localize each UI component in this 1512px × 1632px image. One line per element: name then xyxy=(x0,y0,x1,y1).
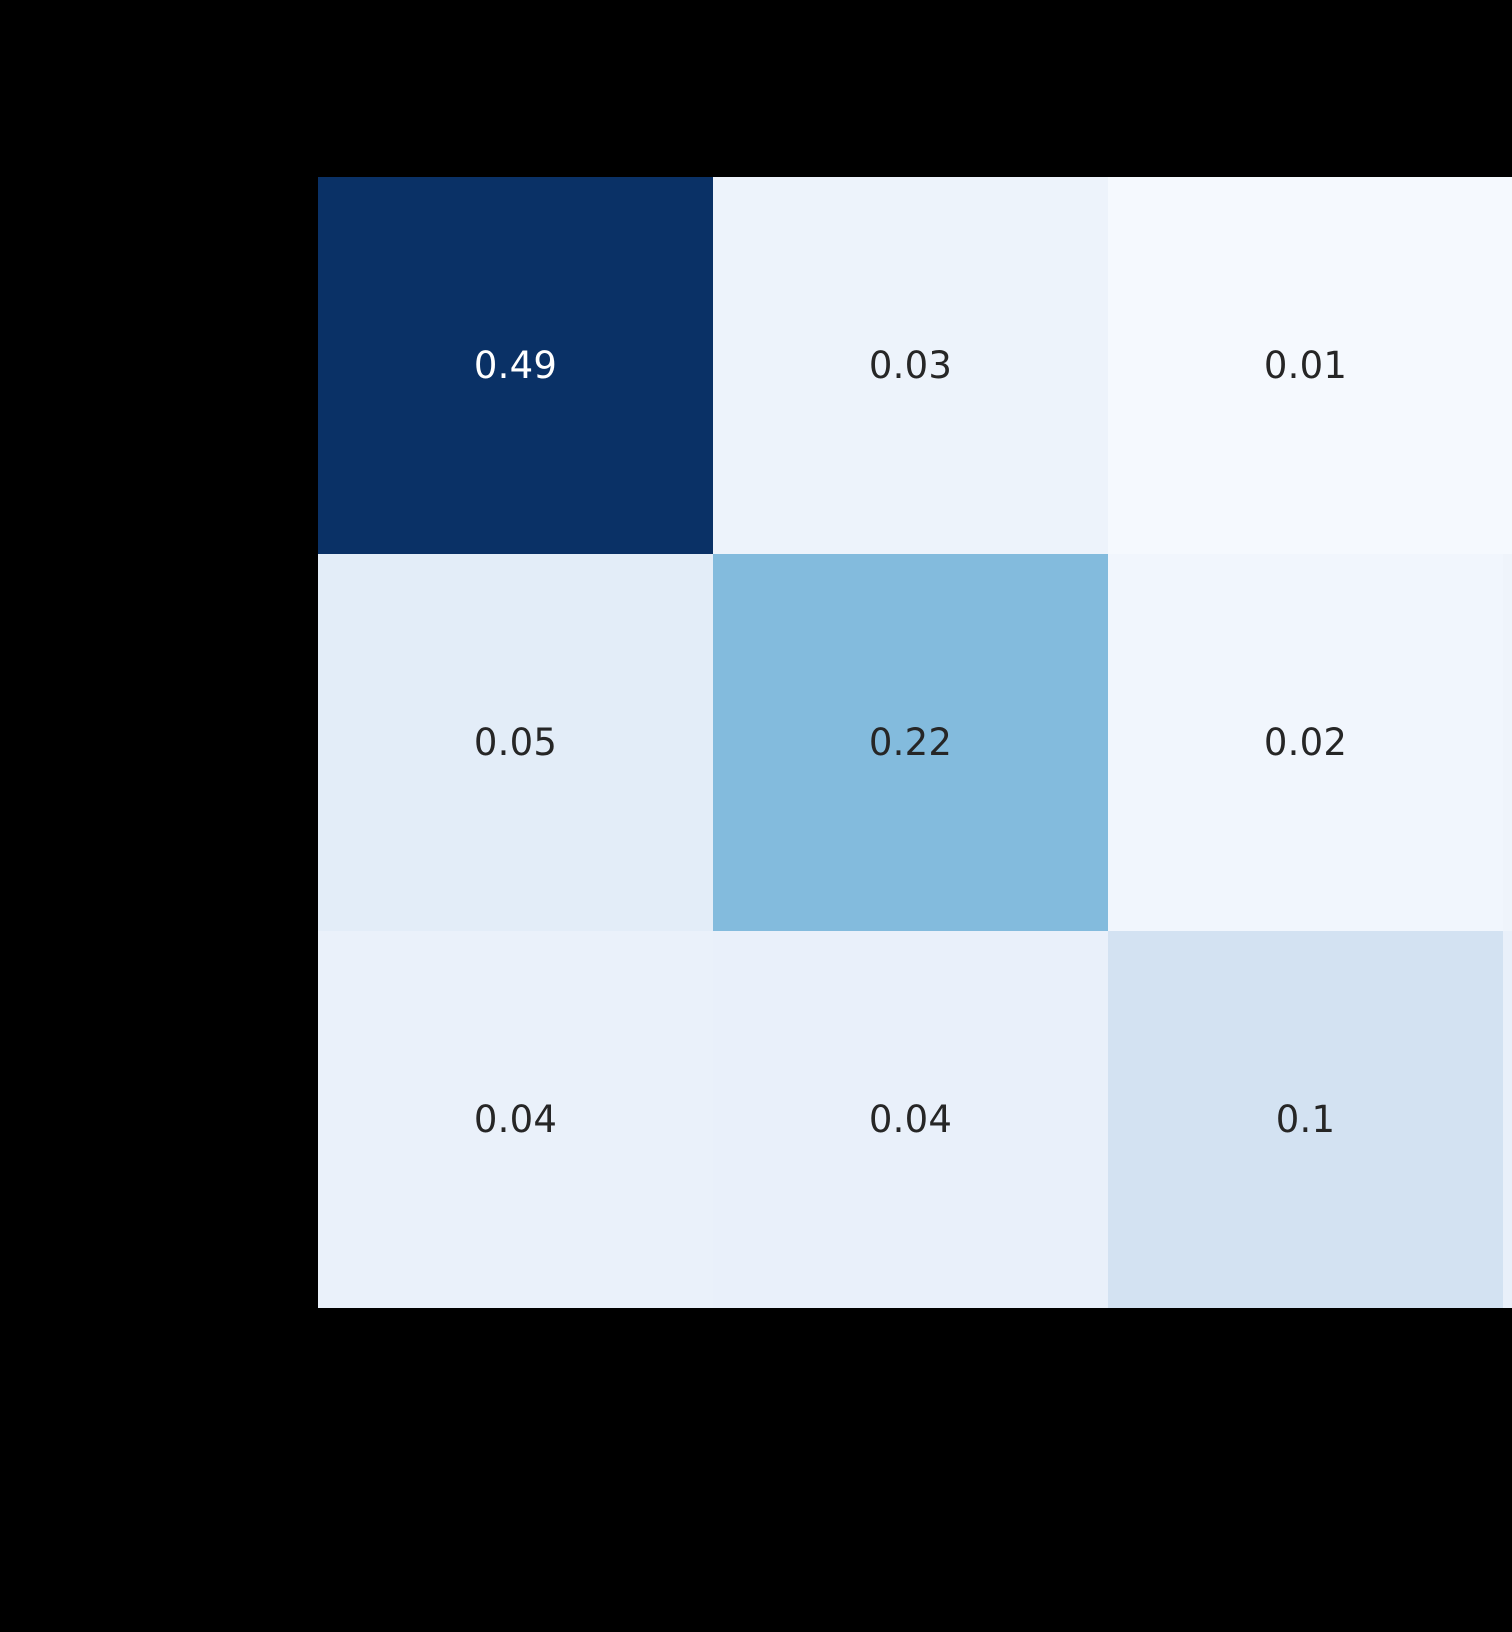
heatmap-cell[interactable] xyxy=(1503,554,1512,931)
heatmap-cell[interactable]: 0.49 xyxy=(318,177,713,554)
heatmap-axes: 0.49 0.03 0.01 0.05 0.22 0.02 0.04 0.04 xyxy=(318,177,1512,1308)
heatmap-cell-label: 0.01 xyxy=(1264,347,1347,384)
heatmap-cell[interactable] xyxy=(1503,931,1512,1308)
heatmap-cell[interactable]: 0.04 xyxy=(318,931,713,1308)
heatmap-cell[interactable]: 0.22 xyxy=(713,554,1108,931)
heatmap-cell-label: 0.49 xyxy=(474,347,557,384)
heatmap-cell-label: 0.05 xyxy=(474,724,557,761)
heatmap-cell-label: 0.02 xyxy=(1264,724,1347,761)
heatmap-cell-label: 0.04 xyxy=(474,1101,557,1138)
heatmap-cell-label: 0.03 xyxy=(869,347,952,384)
heatmap-cell[interactable]: 0.02 xyxy=(1108,554,1503,931)
heatmap-cell[interactable]: 0.1 xyxy=(1108,931,1503,1308)
figure-canvas: 0.49 0.03 0.01 0.05 0.22 0.02 0.04 0.04 xyxy=(0,0,1512,1632)
heatmap-cell[interactable]: 0.03 xyxy=(713,177,1108,554)
heatmap-cell[interactable]: 0.04 xyxy=(713,931,1108,1308)
heatmap-cell[interactable]: 0.01 xyxy=(1108,177,1503,554)
heatmap-cell-label: 0.04 xyxy=(869,1101,952,1138)
heatmap-cell[interactable]: 0.05 xyxy=(318,554,713,931)
heatmap-cell-label: 0.1 xyxy=(1276,1101,1335,1138)
heatmap-cell-label: 0.22 xyxy=(869,724,952,761)
heatmap-cell[interactable] xyxy=(1503,177,1512,554)
